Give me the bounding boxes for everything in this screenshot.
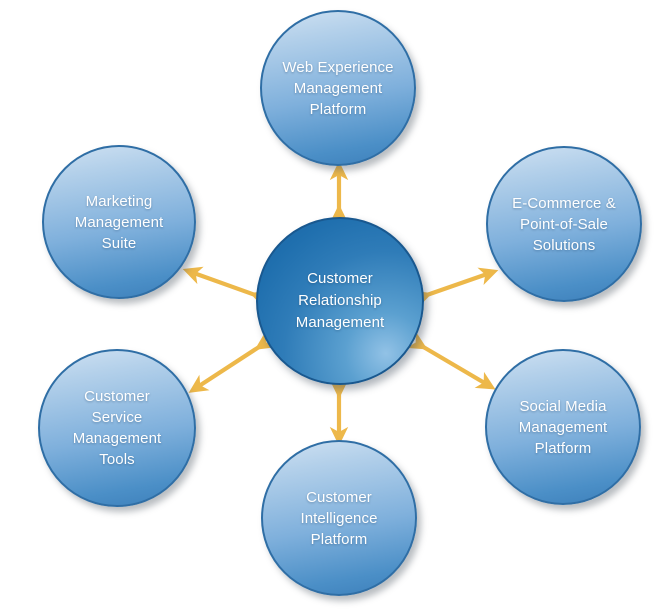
node-label-line: Relationship <box>296 290 385 312</box>
node-label-web-experience-management-platform: Web ExperienceManagementPlatform <box>272 57 403 120</box>
node-label-line: Customer <box>300 487 377 508</box>
node-label-line: Management <box>282 78 393 99</box>
node-label-line: Management <box>519 417 608 438</box>
satellite-node-customer-service-management-tools[interactable]: CustomerServiceManagementTools <box>38 349 196 507</box>
satellite-node-web-experience-management-platform[interactable]: Web ExperienceManagementPlatform <box>260 10 416 166</box>
center-node-customer-relationship-management[interactable]: CustomerRelationshipManagement <box>256 217 424 385</box>
connector-bottom-left <box>196 345 262 388</box>
node-label-line: Social Media <box>519 396 608 417</box>
connector-top-right <box>424 273 490 296</box>
node-label-line: Customer <box>296 268 385 290</box>
node-label-line: Customer <box>73 386 162 407</box>
node-label-line: Management <box>75 212 164 233</box>
node-label-line: Management <box>296 312 385 334</box>
node-label-customer-relationship-management: CustomerRelationshipManagement <box>286 268 395 334</box>
node-label-line: Suite <box>75 233 164 254</box>
node-label-line: Point-of-Sale <box>512 214 616 235</box>
node-label-line: Marketing <box>75 191 164 212</box>
node-label-line: E-Commerce & <box>512 193 616 214</box>
node-label-e-commerce-point-of-sale-solutions: E-Commerce &Point-of-SaleSolutions <box>502 193 626 256</box>
node-label-line: Solutions <box>512 235 616 256</box>
connector-top-left <box>191 272 258 296</box>
node-label-customer-intelligence-platform: CustomerIntelligencePlatform <box>290 487 387 550</box>
node-label-customer-service-management-tools: CustomerServiceManagementTools <box>63 386 172 470</box>
diagram-canvas: Web ExperienceManagementPlatformE-Commer… <box>0 0 665 613</box>
satellite-node-social-media-management-platform[interactable]: Social MediaManagementPlatform <box>485 349 641 505</box>
node-label-line: Intelligence <box>300 508 377 529</box>
satellite-node-e-commerce-point-of-sale-solutions[interactable]: E-Commerce &Point-of-SaleSolutions <box>486 146 642 302</box>
connector-bottom-right <box>420 345 488 385</box>
node-label-line: Platform <box>282 99 393 120</box>
node-label-line: Platform <box>300 529 377 550</box>
satellite-node-customer-intelligence-platform[interactable]: CustomerIntelligencePlatform <box>261 440 417 596</box>
node-label-line: Service <box>73 407 162 428</box>
node-label-social-media-management-platform: Social MediaManagementPlatform <box>509 396 618 459</box>
node-label-marketing-management-suite: MarketingManagementSuite <box>65 191 174 254</box>
node-label-line: Platform <box>519 438 608 459</box>
node-label-line: Management <box>73 428 162 449</box>
satellite-node-marketing-management-suite[interactable]: MarketingManagementSuite <box>42 145 196 299</box>
node-label-line: Web Experience <box>282 57 393 78</box>
node-label-line: Tools <box>73 449 162 470</box>
